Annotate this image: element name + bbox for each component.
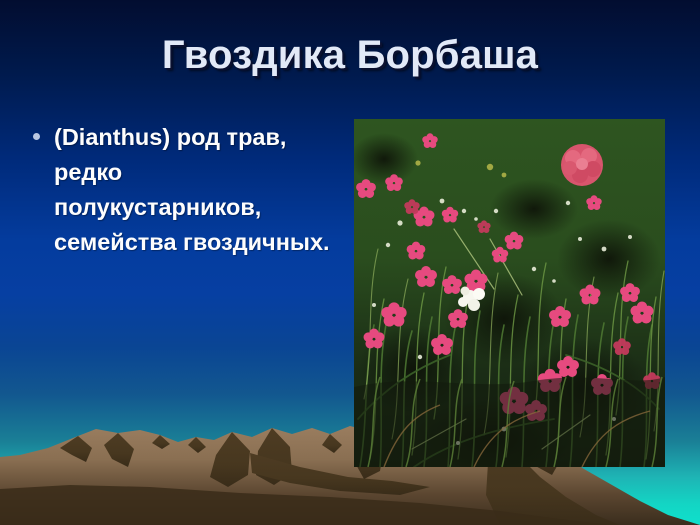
bullet-marker-icon [33,133,40,140]
slide-title: Гвоздика Борбаша [0,33,700,78]
slide-body-text: (Dianthus) род трав, редко полукустарник… [33,120,333,260]
presentation-slide: Гвоздика Борбаша (Dianthus) род трав, ре… [0,0,700,525]
dianthus-photo [354,119,665,467]
bullet-item-label: (Dianthus) род трав, редко полукустарник… [54,120,333,260]
clover-bloom [561,144,603,186]
list-item: (Dianthus) род трав, редко полукустарник… [33,120,333,260]
